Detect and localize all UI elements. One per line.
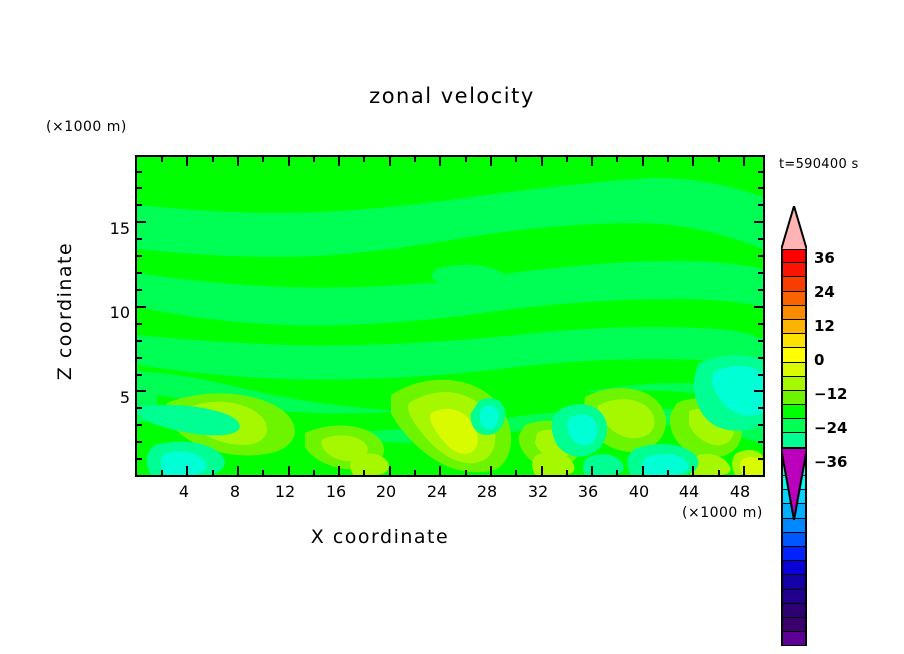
colorbar-band	[781, 547, 807, 561]
x-tick-major	[439, 466, 441, 475]
x-tick-top	[515, 157, 517, 162]
y-tick-right	[758, 238, 763, 240]
y-tick-minor	[137, 204, 142, 206]
x-tick-minor	[212, 470, 214, 475]
x-tick-top	[439, 157, 441, 166]
x-tick-label: 12	[265, 482, 305, 501]
contour-field	[137, 157, 763, 475]
x-tick-minor	[161, 470, 163, 475]
x-tick-major	[743, 466, 745, 475]
x-tick-label: 44	[669, 482, 709, 501]
y-tick-right	[758, 407, 763, 409]
y-tick-right	[758, 204, 763, 206]
x-tick-label: 40	[619, 482, 659, 501]
x-tick-top	[591, 157, 593, 166]
x-tick-label: 28	[467, 482, 507, 501]
x-tick-top	[692, 157, 694, 166]
y-tick-right	[758, 357, 763, 359]
x-tick-top	[313, 157, 315, 162]
colorbar-band	[781, 405, 807, 419]
y-tick-right	[758, 374, 763, 376]
x-tick-top	[667, 157, 669, 162]
colorbar-band	[781, 377, 807, 391]
y-tick-minor	[137, 374, 142, 376]
x-tick-minor	[667, 470, 669, 475]
x-tick-label: 24	[417, 482, 457, 501]
x-tick-major	[591, 466, 593, 475]
y-tick-minor	[137, 323, 142, 325]
x-tick-top	[743, 157, 745, 166]
y-tick-minor	[137, 340, 142, 342]
x-tick-label: 36	[568, 482, 608, 501]
x-axis-label: X coordinate	[0, 526, 760, 548]
y-tick-right	[754, 306, 763, 308]
x-tick-label: 4	[164, 482, 204, 501]
y-tick-minor	[137, 407, 142, 409]
y-tick-right	[758, 272, 763, 274]
y-axis-label: Z coordinate	[54, 201, 76, 421]
x-tick-label: 16	[316, 482, 356, 501]
x-tick-minor	[363, 470, 365, 475]
x-tick-top	[237, 157, 239, 166]
x-tick-top	[490, 157, 492, 166]
y-tick-right	[758, 187, 763, 189]
x-tick-label: 20	[366, 482, 406, 501]
colorbar-label: 36	[814, 249, 835, 267]
y-tick-right	[758, 424, 763, 426]
x-tick-major	[642, 466, 644, 475]
y-tick-right	[758, 171, 763, 173]
colorbar-band	[781, 348, 807, 362]
colorbar-label: 0	[814, 351, 824, 369]
colorbar-under-arrow	[781, 448, 807, 520]
x-tick-top	[718, 157, 720, 162]
colorbar-label: 12	[814, 317, 835, 335]
colorbar-label: 24	[814, 283, 835, 301]
x-tick-top	[541, 157, 543, 166]
x-tick-major	[490, 466, 492, 475]
y-tick-minor	[137, 357, 142, 359]
x-tick-minor	[566, 470, 568, 475]
y-tick-right	[758, 458, 763, 460]
x-tick-top	[288, 157, 290, 166]
y-tick-minor	[137, 289, 142, 291]
x-tick-minor	[616, 470, 618, 475]
colorbar-label: −36	[814, 453, 847, 471]
x-tick-top	[566, 157, 568, 162]
y-tick-label: 10	[96, 303, 130, 322]
x-tick-minor	[313, 470, 315, 475]
x-tick-major	[692, 466, 694, 475]
y-tick-right	[758, 340, 763, 342]
x-tick-major	[389, 466, 391, 475]
x-tick-top	[338, 157, 340, 166]
x-tick-minor	[465, 470, 467, 475]
page-title: zonal velocity	[0, 84, 904, 108]
colorbar-band	[781, 363, 807, 377]
x-tick-label: 48	[720, 482, 760, 501]
x-tick-top	[465, 157, 467, 162]
y-tick-major	[137, 221, 146, 223]
y-tick-right	[754, 390, 763, 392]
x-tick-minor	[515, 470, 517, 475]
colorbar-band	[781, 590, 807, 604]
x-tick-top	[186, 157, 188, 166]
colorbar-band	[781, 292, 807, 306]
x-tick-top	[414, 157, 416, 162]
x-axis-unit-label: (×1000 m)	[682, 505, 763, 521]
y-tick-major	[137, 306, 146, 308]
y-tick-major	[137, 390, 146, 392]
y-tick-right	[758, 255, 763, 257]
y-tick-minor	[137, 458, 142, 460]
colorbar-band	[781, 277, 807, 291]
x-tick-top	[363, 157, 365, 162]
y-tick-minor	[137, 187, 142, 189]
x-tick-major	[338, 466, 340, 475]
x-tick-label: 8	[215, 482, 255, 501]
x-tick-major	[237, 466, 239, 475]
x-tick-top	[262, 157, 264, 162]
y-tick-minor	[137, 441, 142, 443]
y-tick-right	[758, 441, 763, 443]
x-tick-top	[389, 157, 391, 166]
y-tick-minor	[137, 272, 142, 274]
timestamp-annotation: t=590400 s	[779, 157, 859, 172]
colorbar-band	[781, 334, 807, 348]
x-tick-minor	[262, 470, 264, 475]
y-tick-minor	[137, 424, 142, 426]
x-tick-minor	[718, 470, 720, 475]
x-tick-top	[161, 157, 163, 162]
colorbar-band	[781, 561, 807, 575]
colorbar-band	[781, 320, 807, 334]
y-tick-minor	[137, 171, 142, 173]
colorbar-band	[781, 533, 807, 547]
colorbar-label: −24	[814, 419, 847, 437]
contour-plot-area[interactable]	[135, 155, 765, 477]
x-tick-major	[186, 466, 188, 475]
x-tick-major	[288, 466, 290, 475]
y-tick-label: 15	[96, 219, 130, 238]
x-tick-label: 32	[518, 482, 558, 501]
y-tick-label: 5	[96, 388, 130, 407]
colorbar-band	[781, 249, 807, 263]
x-tick-minor	[414, 470, 416, 475]
colorbar-band	[781, 618, 807, 632]
x-tick-top	[616, 157, 618, 162]
y-axis-unit-label: (×1000 m)	[46, 119, 127, 135]
colorbar-band	[781, 263, 807, 277]
colorbar-band	[781, 604, 807, 618]
x-tick-major	[541, 466, 543, 475]
colorbar-label: −12	[814, 385, 847, 403]
colorbar-band	[781, 632, 807, 646]
x-tick-top	[642, 157, 644, 166]
x-tick-top	[212, 157, 214, 162]
colorbar-band	[781, 433, 807, 447]
colorbar-band	[781, 419, 807, 433]
y-tick-right	[758, 289, 763, 291]
colorbar-band	[781, 306, 807, 320]
colorbar-band	[781, 575, 807, 589]
colorbar-band	[781, 519, 807, 533]
colorbar-over-arrow	[781, 206, 807, 250]
colorbar-band	[781, 391, 807, 405]
y-tick-right	[758, 323, 763, 325]
y-tick-right	[754, 221, 763, 223]
y-tick-minor	[137, 238, 142, 240]
y-tick-minor	[137, 255, 142, 257]
